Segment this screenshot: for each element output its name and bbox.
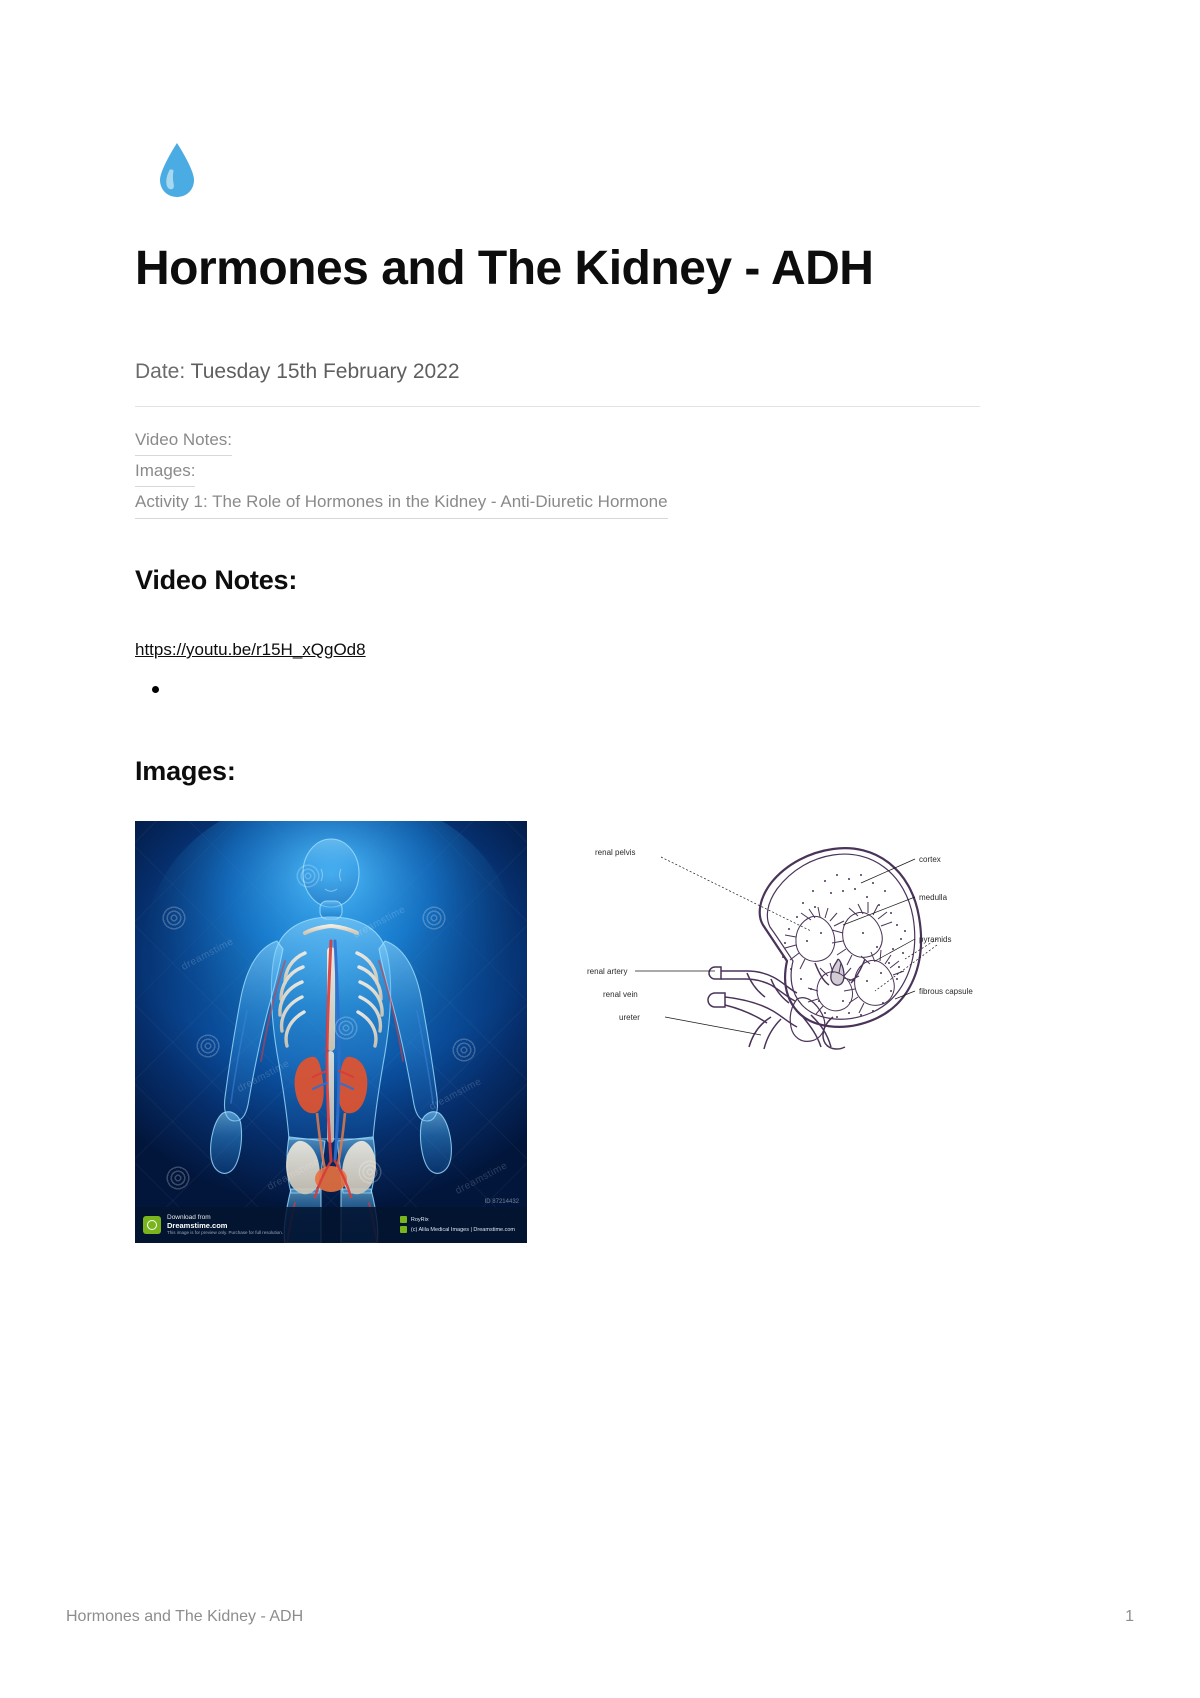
- footer-document-name: Hormones and The Kidney - ADH: [66, 1608, 303, 1626]
- section-heading-video-notes: Video Notes:: [135, 565, 980, 596]
- disclaimer-label: This image is for preview only. Purchase…: [167, 1230, 394, 1235]
- stock-chip: (c) Alila Medical Images | Dreamstime.co…: [400, 1226, 515, 1233]
- kidney-label-renal-artery: renal artery: [587, 967, 627, 976]
- youtube-video-link[interactable]: https://youtu.be/r15H_xQgOd8: [135, 640, 366, 660]
- page-title: Hormones and The Kidney - ADH: [135, 240, 895, 299]
- document-date: Date: Tuesday 15th February 2022: [135, 357, 980, 386]
- kidney-label-renal-vein: renal vein: [603, 990, 638, 999]
- footer-page-number: 1: [1125, 1608, 1134, 1626]
- stock-photo-footer: Download from Dreamstime.com This image …: [135, 1207, 527, 1243]
- chip-two-label: (c) Alila Medical Images | Dreamstime.co…: [411, 1227, 515, 1233]
- section-heading-images: Images:: [135, 756, 980, 787]
- toc-item-video-notes[interactable]: Video Notes:: [135, 425, 232, 456]
- header-divider: [135, 406, 980, 407]
- document-icon-wrapper: [135, 142, 187, 216]
- water-droplet-emoji-icon: [157, 142, 197, 198]
- anatomy-photo: dreamstime dreamstime dreamstime dreamst…: [135, 821, 527, 1243]
- toc-item-images[interactable]: Images:: [135, 456, 195, 487]
- date-value: Tuesday 15th February 2022: [185, 360, 459, 383]
- chip-one-label: RoyRix: [411, 1217, 429, 1223]
- dreamstime-logo-icon: [143, 1216, 161, 1234]
- chip-square-icon: [400, 1226, 407, 1233]
- toc-item-activity-1[interactable]: Activity 1: The Role of Hormones in the …: [135, 487, 668, 518]
- page-footer: Hormones and The Kidney - ADH 1: [66, 1608, 1134, 1626]
- kidney-label-ureter: ureter: [619, 1013, 640, 1022]
- kidney-label-renal-pelvis: renal pelvis: [595, 848, 635, 857]
- list-item[interactable]: [171, 678, 980, 704]
- kidney-cross-section-svg: renal pelvis renal artery renal vein ure…: [575, 821, 975, 1051]
- table-of-contents: Video Notes: Images: Activity 1: The Rol…: [135, 425, 980, 519]
- date-label: Date:: [135, 360, 185, 383]
- stock-chip: RoyRix: [400, 1216, 515, 1223]
- stock-image-id: ID 87214432: [485, 1199, 519, 1205]
- chip-square-icon: [400, 1216, 407, 1223]
- stock-footer-text: Download from Dreamstime.com This image …: [167, 1214, 394, 1235]
- document-page: Hormones and The Kidney - ADH Date: Tues…: [0, 0, 1200, 1698]
- kidney-label-pyramids: pyramids: [919, 935, 951, 944]
- human-body-illustration: [135, 821, 527, 1243]
- document-content: Hormones and The Kidney - ADH Date: Tues…: [135, 0, 980, 1243]
- kidney-label-fibrous-capsule: fibrous capsule: [919, 987, 973, 996]
- stock-footer-chips: RoyRix (c) Alila Medical Images | Dreams…: [400, 1216, 519, 1233]
- images-row: dreamstime dreamstime dreamstime dreamst…: [135, 821, 980, 1243]
- kidney-diagram: renal pelvis renal artery renal vein ure…: [575, 821, 975, 1051]
- kidney-label-medulla: medulla: [919, 893, 948, 902]
- brand-label: Dreamstime.com: [167, 1222, 394, 1230]
- video-notes-bullet-list: [135, 678, 980, 704]
- kidney-label-cortex: cortex: [919, 855, 941, 864]
